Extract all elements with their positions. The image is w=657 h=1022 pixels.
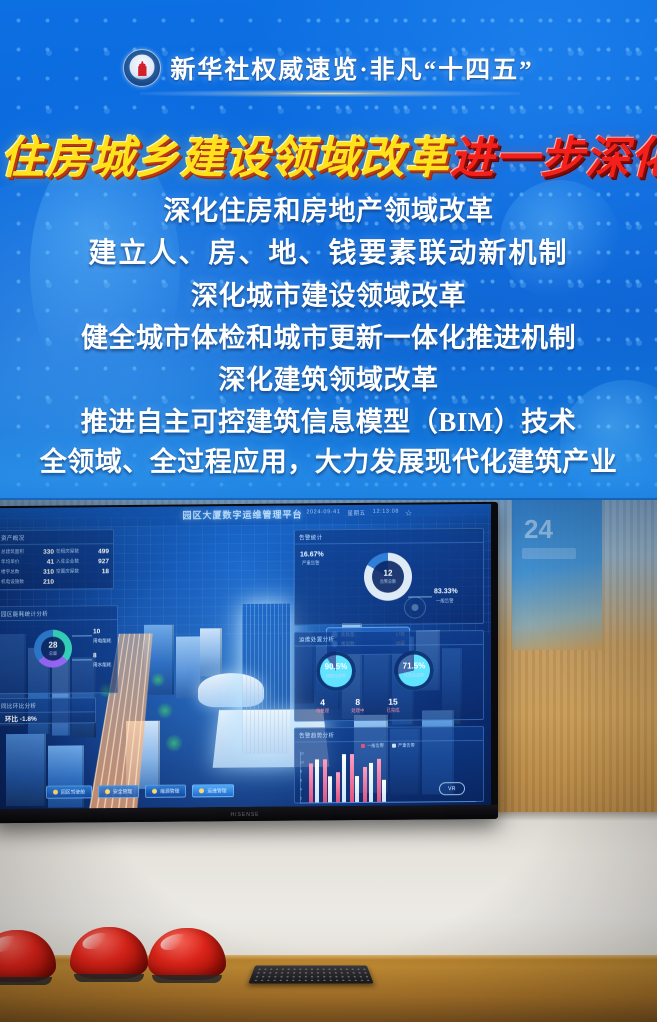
asset-value (83, 578, 109, 585)
stat-pending-label: 待处理 (316, 708, 329, 714)
alarm-total-label: 告警总数 (380, 578, 396, 584)
asset-key: 入驻企业数 (56, 558, 81, 565)
energy-total-label: 总量 (49, 650, 57, 656)
headline-red-part: 进一步深化 (450, 134, 657, 183)
energy-panel-title: 园区能耗统计分析 (0, 606, 117, 621)
hero-tower-highlighted[interactable] (242, 604, 290, 754)
bar-group (350, 754, 360, 802)
stat-completed-label: 已完成 (386, 708, 399, 714)
nav-button-maintenance[interactable]: 运维管理 (192, 784, 233, 797)
alarm-total-value: 12 (384, 569, 393, 577)
stat-inprogress-value: 8 (351, 697, 364, 707)
ring-completion-rate: 71.5% 任务完成率 (394, 650, 434, 690)
y-tick: 2 (300, 797, 302, 801)
y-tick: 4 (300, 788, 302, 792)
body-line-4: 健全城市体检和城市更新一体化推进机制 (0, 325, 657, 352)
energy-donut-chart: 28 总量 (34, 630, 72, 668)
stat-inprogress: 8 处理中 (351, 697, 364, 714)
y-tick: 6 (300, 779, 302, 783)
asset-key: 机电设施数 (1, 579, 26, 586)
y-tick: 8 (300, 770, 302, 774)
on-time-rate-label: 按期完成率 (326, 673, 346, 679)
trend-value: 环比 -1.8% (5, 713, 37, 723)
bar-chart-legend: 一般告警 严重告警 (300, 742, 476, 750)
wall-mounted-tv: 栋数量： 17栋 楼层数： 25层 园区大厦数字运维管理平台 (0, 502, 498, 823)
tv-brand-logo: HISENSE (231, 812, 260, 818)
helmet-highlight (159, 931, 190, 953)
asset-kv-grid: 总建筑面积 330 在租房屋数 499 年均单价 41 入驻企业数 927 楼宇… (0, 544, 113, 590)
energy-lead-value-2: 8 (93, 652, 97, 659)
completion-rate-value: 71.5% (403, 663, 426, 671)
asset-key: 总建筑面积 (1, 549, 26, 556)
nav-button-safety[interactable]: 安全管理 (98, 785, 139, 798)
bell-icon[interactable]: ☆ (405, 509, 413, 518)
on-time-rate-value: 90.5% (325, 663, 348, 671)
energy-total-value: 28 (49, 641, 58, 649)
vr-badge[interactable]: VR (439, 782, 465, 795)
asset-value: 330 (28, 549, 54, 556)
nav-button-campus-cockpit[interactable]: 园区驾驶舱 (46, 785, 92, 798)
kicker-divider (140, 90, 520, 97)
alarm-panel-title: 告警统计 (295, 529, 483, 545)
building (6, 734, 46, 806)
maintenance-stats-row: 4 待处理 8 处理中 15 已完成 (316, 697, 400, 715)
nav-label: 能源管理 (160, 788, 179, 795)
nav-label: 运维管理 (207, 787, 226, 794)
energy-lead-label-2: 用水能耗 (93, 662, 111, 668)
nav-label: 安全管理 (113, 788, 132, 795)
legend-swatch (361, 744, 365, 748)
body-line-3: 深化城市建设领域改革 (0, 283, 657, 310)
dashboard-nav-bar[interactable]: 园区驾驶舱 安全管理 能源管理 运维管理 (46, 784, 234, 799)
tree-cluster (156, 703, 174, 719)
bar-chart-plot: 12 10 8 6 4 2 (300, 750, 476, 804)
asset-value: 310 (28, 569, 54, 576)
y-tick: 12 (300, 751, 304, 755)
legend-item-general: 一般告警 (361, 743, 384, 749)
asset-panel-title: 资产概况 (0, 530, 113, 545)
body-line-5: 深化建筑领域改革 (0, 367, 657, 394)
bar-group (363, 763, 373, 802)
tree-cluster (150, 673, 166, 687)
tree-cluster (164, 735, 184, 752)
helmet-highlight (0, 933, 20, 955)
body-line-7: 全领域、全过程应用，大力发展现代化建筑产业 (0, 449, 657, 476)
body-line-2: 建立人、房、地、钱要素联动新机制 (0, 240, 657, 268)
dashboard-clock: 2024-09-41 星期五 12:13:08 (306, 509, 399, 518)
page-title: 住房城乡建设领域改革进一步深化 (0, 122, 657, 186)
clock-date: 2024-09-41 (306, 509, 340, 517)
clock-weekday: 星期五 (347, 509, 365, 517)
legend-item-severe: 严重告警 (392, 743, 415, 749)
completion-rate-label: 任务完成率 (404, 672, 424, 678)
asset-key: 楼宇总数 (1, 569, 26, 576)
stat-inprogress-label: 处理中 (351, 708, 364, 714)
asset-key: 空置房屋数 (56, 568, 81, 575)
asset-value: 210 (28, 579, 54, 586)
stat-completed-value: 15 (386, 697, 399, 707)
stat-pending: 4 待处理 (316, 697, 329, 714)
asset-value: 499 (83, 548, 109, 555)
asset-value: 41 (28, 559, 54, 566)
legend-label: 一般告警 (367, 743, 384, 749)
maintenance-panel-title: 运维处置分析 (295, 631, 483, 647)
body-text-block: 深化住房和房地产领域改革 建立人、房、地、钱要素联动新机制 深化城市建设领域改革… (0, 198, 657, 476)
stat-completed: 15 已完成 (386, 697, 399, 714)
poster-root: 新华社权威速览·非凡“十四五” 住房城乡建设领域改革进一步深化 深化住房和房地产… (0, 0, 657, 1022)
alarm-pct-right: 83.33% (434, 588, 458, 595)
bar-group (336, 754, 346, 802)
kicker-bar: 新华社权威速览·非凡“十四五” (0, 44, 657, 92)
maintenance-icon (199, 788, 204, 793)
trend-panel-title: 同比环比分析 (0, 698, 95, 713)
bar-group (309, 759, 319, 802)
headline-yellow-part: 住房城乡建设领域改革 (0, 134, 450, 183)
alarm-pct-left: 16.67% (300, 551, 324, 558)
energy-lead-value-1: 10 (93, 628, 100, 635)
alarm-pct-left-label: 严重告警 (302, 560, 320, 566)
asset-value: 18 (83, 568, 109, 575)
building (200, 628, 222, 676)
stat-pending-value: 4 (316, 697, 329, 707)
trend-panel: 同比环比分析 环比 -1.8% (0, 697, 96, 724)
nav-label: 园区驾驶舱 (61, 788, 85, 795)
body-line-6: 推进自主可控建筑信息模型（BIM）技术 (0, 409, 657, 436)
secondary-screen: 24 (512, 500, 602, 650)
alarm-donut-center: 12 告警总数 (372, 561, 404, 593)
asset-key: 在租房屋数 (56, 548, 81, 555)
asset-value: 927 (83, 558, 109, 565)
tv-screen[interactable]: 栋数量： 17栋 楼层数： 25层 园区大厦数字运维管理平台 (0, 504, 491, 809)
photo-region: 24 (0, 500, 657, 1022)
alarm-trend-title: 告警趋势分析 (295, 727, 483, 743)
safety-icon (105, 789, 110, 794)
alarm-pct-right-label: 一般告警 (436, 598, 454, 604)
energy-donut-center: 28 总量 (41, 637, 65, 661)
dashboard-title: 园区大厦数字运维管理平台 (182, 507, 302, 521)
helmet-highlight (81, 930, 112, 952)
asset-overview-panel: 资产概况 总建筑面积 330 在租房屋数 499 年均单价 41 入驻企业数 9… (0, 529, 114, 590)
secondary-screen-chip (522, 548, 576, 559)
asset-key (56, 578, 81, 585)
energy-lead-label-1: 用电能耗 (93, 638, 111, 644)
ring-on-time-rate: 90.5% 按期完成率 (316, 651, 356, 691)
legend-swatch (392, 744, 396, 748)
y-tick: 10 (300, 760, 304, 764)
alarm-trend-bar-chart: 一般告警 严重告警 12 10 8 6 4 2 (300, 742, 476, 809)
legend-label: 严重告警 (398, 743, 415, 749)
bar-group (323, 759, 333, 802)
computer-keyboard[interactable] (248, 966, 373, 984)
bar-group (377, 759, 387, 802)
keyboard-keys (252, 968, 369, 981)
logo-ring-text (124, 76, 160, 85)
nav-button-energy[interactable]: 能源管理 (145, 785, 186, 798)
energy-icon (152, 789, 157, 794)
xinhua-news-agency-logo (123, 49, 161, 87)
kicker-title: 新华社权威速览·非凡“十四五” (170, 50, 533, 86)
alarm-donut-chart: 12 告警总数 (364, 553, 412, 601)
asset-key: 年均单价 (1, 559, 26, 566)
clock-time: 12:13:08 (373, 509, 399, 517)
secondary-screen-number: 24 (524, 514, 553, 545)
body-line-1: 深化住房和房地产领域改革 (0, 198, 657, 225)
cockpit-icon (53, 790, 58, 795)
